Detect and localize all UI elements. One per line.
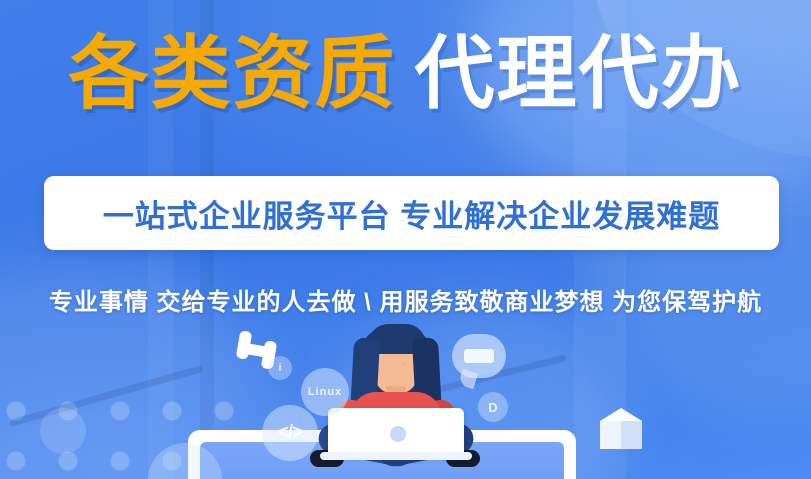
laptop-logo-dot <box>390 426 406 442</box>
tagline: 专业事情 交给专业的人去做 \ 用服务致敬商业梦想 为您保驾护航 <box>0 282 811 317</box>
cube-right-face <box>621 421 642 449</box>
illustration <box>0 320 811 479</box>
subtitle-pill-text: 一站式企业服务平台 专业解决企业发展难题 <box>103 191 721 236</box>
info-orb-label: i <box>278 362 281 374</box>
bookmark-orb-icon: D <box>478 392 508 422</box>
headline: 各类资质代理代办 <box>0 34 811 114</box>
chat-bubble-lines <box>464 349 494 363</box>
headline-white-text: 代理代办 <box>415 29 743 118</box>
headline-gold-text: 各类资质 <box>69 29 397 118</box>
chat-bubble-icon <box>452 334 506 378</box>
code-orb-icon: </> <box>262 405 318 461</box>
linux-orb-label: Linux <box>308 386 342 398</box>
promo-banner: 各类资质代理代办 一站式企业服务平台 专业解决企业发展难题 专业事情 交给专业的… <box>0 0 811 479</box>
code-orb-label: </> <box>278 422 302 444</box>
subtitle-pill: 一站式企业服务平台 专业解决企业发展难题 <box>44 176 779 250</box>
bookmark-orb-label: D <box>488 400 497 415</box>
cube-left-face <box>600 421 621 449</box>
cube-top-face <box>600 408 642 421</box>
ghost-circle-2 <box>40 408 86 454</box>
info-orb-icon: i <box>268 356 292 380</box>
cube-icon <box>600 408 642 450</box>
laptop-base <box>320 452 472 460</box>
linux-orb-icon: Linux <box>301 368 349 416</box>
